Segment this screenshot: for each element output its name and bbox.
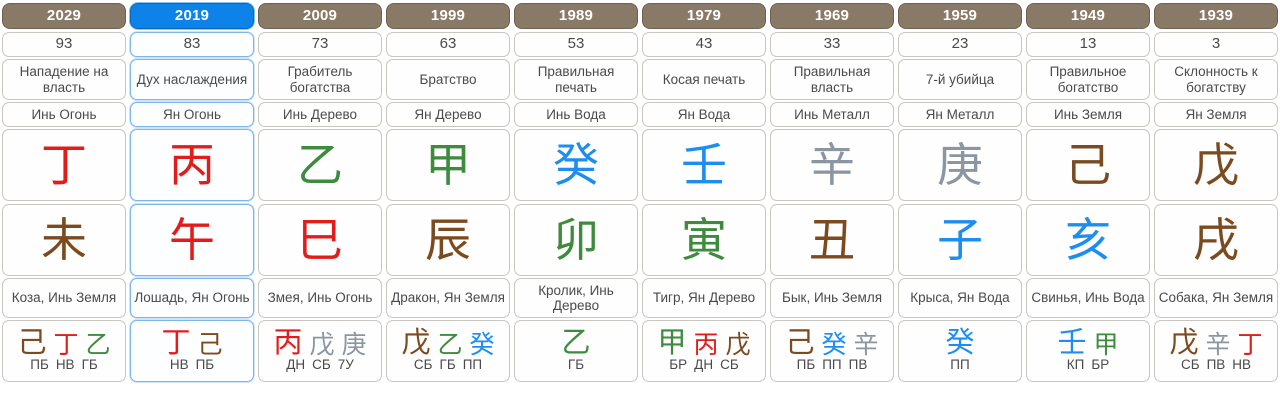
- hidden-stem-abbr: БР: [1091, 358, 1109, 373]
- pillar-heavenly-stem: 丁: [2, 129, 126, 201]
- pillar-heavenly-stem: 壬: [642, 129, 766, 201]
- pillar-polarity-element: Инь Земля: [1026, 102, 1150, 127]
- hidden-stem-abbr: ПП: [950, 358, 969, 373]
- hidden-stem-glyph-row: 丁己: [161, 328, 222, 357]
- pillar-year-header[interactable]: 1979: [642, 3, 766, 29]
- pillar-animal-element: Свинья, Инь Вода: [1026, 278, 1150, 318]
- hidden-stem-glyph: 戊: [726, 332, 751, 357]
- luck-pillar-column-2029[interactable]: 202993Нападение на властьИнь Огонь丁未Коза…: [0, 0, 128, 383]
- pillar-ten-god: Правильная печать: [514, 59, 638, 100]
- hidden-stem-abbr: ПВ: [1207, 358, 1226, 373]
- pillar-hidden-stems: 癸ПП: [898, 320, 1022, 382]
- hidden-stem-glyph: 乙: [86, 332, 111, 357]
- pillar-heavenly-stem: 庚: [898, 129, 1022, 201]
- luck-pillar-column-2009[interactable]: 200973Грабитель богатстваИнь Дерево乙巳Зме…: [256, 0, 384, 383]
- luck-pillar-column-2019[interactable]: 201983Дух наслажденияЯн Огонь丙午Лошадь, Я…: [128, 0, 256, 383]
- hidden-stem-glyph-row: 癸: [945, 328, 974, 357]
- hidden-stem-glyph: 己: [785, 328, 814, 357]
- pillar-age: 23: [898, 32, 1022, 57]
- hidden-stem-abbr: СБ: [720, 358, 739, 373]
- luck-pillar-column-1959[interactable]: 1959237-й убийцаЯн Металл庚子Крыса, Ян Вод…: [896, 0, 1024, 383]
- hidden-stem-glyph: 戊: [401, 328, 430, 357]
- pillar-age: 33: [770, 32, 894, 57]
- pillar-year-header[interactable]: 1949: [1026, 3, 1150, 29]
- pillar-ten-god: 7-й убийца: [898, 59, 1022, 100]
- pillar-year-header[interactable]: 1939: [1154, 3, 1278, 29]
- hidden-stem-glyph: 乙: [437, 332, 462, 357]
- pillar-year-header[interactable]: 1959: [898, 3, 1022, 29]
- pillar-age: 43: [642, 32, 766, 57]
- pillar-polarity-element: Инь Дерево: [258, 102, 382, 127]
- pillar-animal-element: Тигр, Ян Дерево: [642, 278, 766, 318]
- pillar-age: 63: [386, 32, 510, 57]
- luck-pillar-column-1939[interactable]: 19393Склонность к богатствуЯн Земля戊戌Соб…: [1152, 0, 1280, 383]
- pillar-hidden-stems: 丁己НВПБ: [130, 320, 254, 382]
- hidden-stem-glyph: 甲: [657, 328, 686, 357]
- pillar-year-header[interactable]: 1999: [386, 3, 510, 29]
- pillar-earthly-branch: 辰: [386, 204, 510, 276]
- hidden-stem-glyph-row: 甲丙戊: [657, 328, 750, 357]
- pillar-heavenly-stem: 癸: [514, 129, 638, 201]
- pillar-earthly-branch: 午: [130, 204, 254, 276]
- pillar-heavenly-stem: 甲: [386, 129, 510, 201]
- pillar-animal-element: Коза, Инь Земля: [2, 278, 126, 318]
- luck-pillar-column-1969[interactable]: 196933Правильная властьИнь Металл辛丑Бык, …: [768, 0, 896, 383]
- pillar-ten-god: Братство: [386, 59, 510, 100]
- pillar-earthly-branch: 子: [898, 204, 1022, 276]
- hidden-stem-abbr-row: КПБР: [1067, 358, 1109, 373]
- pillar-earthly-branch: 戌: [1154, 204, 1278, 276]
- hidden-stem-glyph: 戊: [1169, 328, 1198, 357]
- hidden-stem-glyph: 戊: [309, 332, 334, 357]
- pillar-hidden-stems: 丙戊庚ДНСБ7У: [258, 320, 382, 382]
- hidden-stem-abbr-row: ПБНВГБ: [30, 358, 98, 373]
- hidden-stem-abbr-row: БРДНСБ: [669, 358, 738, 373]
- hidden-stem-abbr: ПБ: [30, 358, 49, 373]
- hidden-stem-glyph: 庚: [342, 332, 367, 357]
- pillar-age: 53: [514, 32, 638, 57]
- pillar-polarity-element: Ян Металл: [898, 102, 1022, 127]
- hidden-stem-abbr-row: СБПВНВ: [1181, 358, 1251, 373]
- pillar-heavenly-stem: 乙: [258, 129, 382, 201]
- hidden-stem-abbr: ПВ: [849, 358, 868, 373]
- pillar-earthly-branch: 巳: [258, 204, 382, 276]
- pillar-heavenly-stem: 丙: [130, 129, 254, 201]
- hidden-stem-abbr: НВ: [170, 358, 189, 373]
- hidden-stem-abbr: ПП: [463, 358, 482, 373]
- pillar-age: 13: [1026, 32, 1150, 57]
- pillar-animal-element: Крыса, Ян Вода: [898, 278, 1022, 318]
- pillar-ten-god: Правильное богатство: [1026, 59, 1150, 100]
- pillar-earthly-branch: 亥: [1026, 204, 1150, 276]
- hidden-stem-glyph-row: 壬甲: [1057, 328, 1118, 357]
- hidden-stem-abbr: ПП: [822, 358, 841, 373]
- luck-pillar-column-1979[interactable]: 197943Косая печатьЯн Вода壬寅Тигр, Ян Дере…: [640, 0, 768, 383]
- hidden-stem-glyph-row: 戊辛丁: [1169, 328, 1262, 357]
- hidden-stem-glyph: 丁: [53, 332, 78, 357]
- hidden-stem-glyph: 己: [198, 332, 223, 357]
- luck-pillar-column-1949[interactable]: 194913Правильное богатствоИнь Земля己亥Сви…: [1024, 0, 1152, 383]
- pillar-polarity-element: Ян Земля: [1154, 102, 1278, 127]
- hidden-stem-abbr: ПБ: [797, 358, 816, 373]
- pillar-animal-element: Бык, Инь Земля: [770, 278, 894, 318]
- pillar-animal-element: Дракон, Ян Земля: [386, 278, 510, 318]
- hidden-stem-glyph: 辛: [854, 332, 879, 357]
- luck-pillars-table: 202993Нападение на властьИнь Огонь丁未Коза…: [0, 0, 1280, 409]
- hidden-stem-abbr-row: НВПБ: [170, 358, 214, 373]
- hidden-stem-abbr: ГБ: [82, 358, 98, 373]
- pillar-age: 93: [2, 32, 126, 57]
- luck-pillar-column-1989[interactable]: 198953Правильная печатьИнь Вода癸卯Кролик,…: [512, 0, 640, 383]
- hidden-stem-glyph: 己: [17, 328, 46, 357]
- hidden-stem-glyph: 丙: [273, 328, 302, 357]
- hidden-stem-abbr: ГБ: [568, 358, 584, 373]
- pillar-heavenly-stem: 辛: [770, 129, 894, 201]
- pillar-polarity-element: Ян Вода: [642, 102, 766, 127]
- hidden-stem-glyph: 丁: [161, 328, 190, 357]
- hidden-stem-glyph-row: 己丁乙: [17, 328, 110, 357]
- hidden-stem-glyph: 丁: [1238, 332, 1263, 357]
- pillar-heavenly-stem: 己: [1026, 129, 1150, 201]
- hidden-stem-glyph: 壬: [1057, 328, 1086, 357]
- pillar-hidden-stems: 戊辛丁СБПВНВ: [1154, 320, 1278, 382]
- pillar-animal-element: Собака, Ян Земля: [1154, 278, 1278, 318]
- pillar-ten-god: Нападение на власть: [2, 59, 126, 100]
- hidden-stem-glyph: 癸: [470, 332, 495, 357]
- pillar-polarity-element: Инь Огонь: [2, 102, 126, 127]
- pillar-polarity-element: Инь Вода: [514, 102, 638, 127]
- pillar-polarity-element: Ян Дерево: [386, 102, 510, 127]
- pillar-year-header[interactable]: 1969: [770, 3, 894, 29]
- hidden-stem-abbr: СБ: [414, 358, 433, 373]
- pillar-ten-god: Дух наслаждения: [130, 59, 254, 100]
- hidden-stem-abbr: НВ: [56, 358, 75, 373]
- pillar-animal-element: Кролик, Инь Дерево: [514, 278, 638, 318]
- hidden-stem-glyph: 辛: [1205, 332, 1230, 357]
- pillar-year-header[interactable]: 2019: [130, 3, 254, 29]
- pillar-polarity-element: Ян Огонь: [130, 102, 254, 127]
- hidden-stem-abbr: ДН: [694, 358, 713, 373]
- pillar-year-header[interactable]: 1989: [514, 3, 638, 29]
- pillar-ten-god: Грабитель богатства: [258, 59, 382, 100]
- pillar-hidden-stems: 戊乙癸СБГБПП: [386, 320, 510, 382]
- hidden-stem-abbr: СБ: [1181, 358, 1200, 373]
- pillar-hidden-stems: 己癸辛ПБПППВ: [770, 320, 894, 382]
- pillar-earthly-branch: 寅: [642, 204, 766, 276]
- hidden-stem-abbr: КП: [1067, 358, 1085, 373]
- pillar-earthly-branch: 丑: [770, 204, 894, 276]
- pillar-year-header[interactable]: 2029: [2, 3, 126, 29]
- pillar-animal-element: Лошадь, Ян Огонь: [130, 278, 254, 318]
- hidden-stem-glyph-row: 丙戊庚: [273, 328, 366, 357]
- hidden-stem-abbr-row: ПБПППВ: [797, 358, 868, 373]
- pillar-earthly-branch: 卯: [514, 204, 638, 276]
- hidden-stem-abbr-row: ГБ: [568, 358, 584, 373]
- hidden-stem-glyph-row: 戊乙癸: [401, 328, 494, 357]
- pillar-age: 3: [1154, 32, 1278, 57]
- hidden-stem-abbr-row: ДНСБ7У: [286, 358, 354, 373]
- hidden-stem-glyph: 癸: [945, 328, 974, 357]
- hidden-stem-glyph: 癸: [821, 332, 846, 357]
- pillar-age: 83: [130, 32, 254, 57]
- pillar-age: 73: [258, 32, 382, 57]
- hidden-stem-glyph: 乙: [561, 328, 590, 357]
- hidden-stem-glyph-row: 乙: [561, 328, 590, 357]
- pillar-ten-god: Косая печать: [642, 59, 766, 100]
- pillar-hidden-stems: 壬甲КПБР: [1026, 320, 1150, 382]
- hidden-stem-abbr: ДН: [286, 358, 305, 373]
- pillar-year-header[interactable]: 2009: [258, 3, 382, 29]
- pillar-hidden-stems: 甲丙戊БРДНСБ: [642, 320, 766, 382]
- hidden-stem-abbr: НВ: [1232, 358, 1251, 373]
- pillar-ten-god: Правильная власть: [770, 59, 894, 100]
- pillar-polarity-element: Инь Металл: [770, 102, 894, 127]
- pillar-hidden-stems: 己丁乙ПБНВГБ: [2, 320, 126, 382]
- hidden-stem-abbr-row: СБГБПП: [414, 358, 482, 373]
- hidden-stem-abbr-row: ПП: [950, 358, 969, 373]
- hidden-stem-abbr: СБ: [312, 358, 331, 373]
- hidden-stem-abbr: 7У: [338, 358, 354, 373]
- luck-pillar-column-1999[interactable]: 199963БратствоЯн Дерево甲辰Дракон, Ян Земл…: [384, 0, 512, 383]
- hidden-stem-abbr: ПБ: [196, 358, 215, 373]
- hidden-stem-abbr: БР: [669, 358, 687, 373]
- hidden-stem-glyph-row: 己癸辛: [785, 328, 878, 357]
- pillar-hidden-stems: 乙ГБ: [514, 320, 638, 382]
- hidden-stem-glyph: 丙: [693, 332, 718, 357]
- pillar-earthly-branch: 未: [2, 204, 126, 276]
- pillar-ten-god: Склонность к богатству: [1154, 59, 1278, 100]
- hidden-stem-abbr: ГБ: [440, 358, 456, 373]
- pillar-animal-element: Змея, Инь Огонь: [258, 278, 382, 318]
- hidden-stem-glyph: 甲: [1094, 332, 1119, 357]
- pillar-heavenly-stem: 戊: [1154, 129, 1278, 201]
